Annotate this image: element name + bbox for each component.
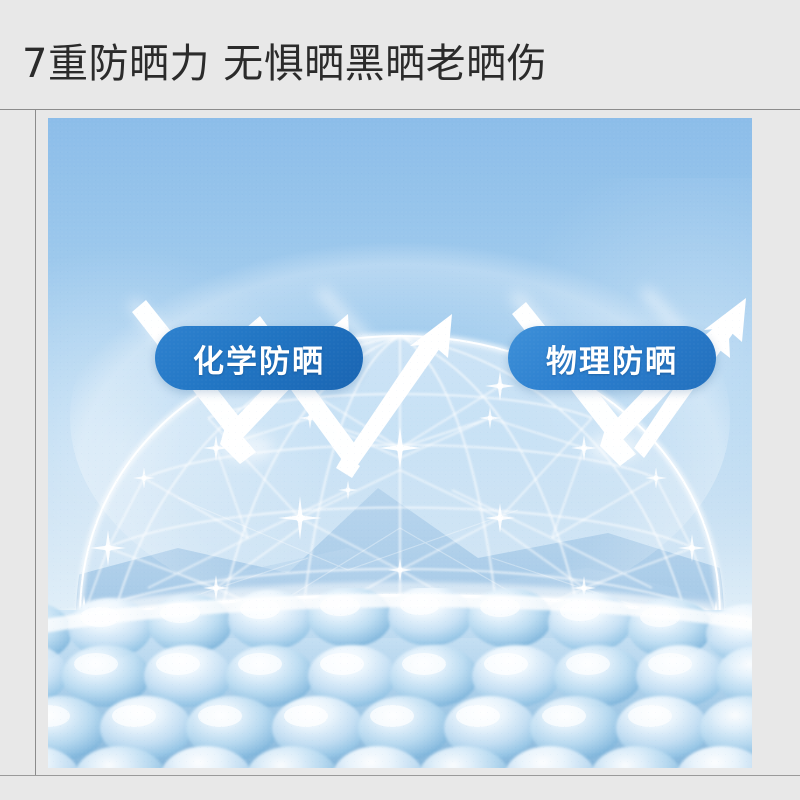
divider-top [0,109,800,110]
badge-physical-sunscreen[interactable]: 物理防晒 [508,326,716,390]
divider-left [35,109,36,775]
badge-chemical-sunscreen[interactable]: 化学防晒 [155,326,363,390]
moisture-capsule-layer [48,588,752,768]
page-root: 7重防晒力 无惧晒黑晒老晒伤 [0,0,800,800]
capsule-grid-svg [48,588,752,768]
divider-bottom [0,775,800,776]
sunscreen-dome-illustration: 化学防晒 物理防晒 [48,118,752,768]
page-title: 7重防晒力 无惧晒黑晒老晒伤 [22,38,547,90]
